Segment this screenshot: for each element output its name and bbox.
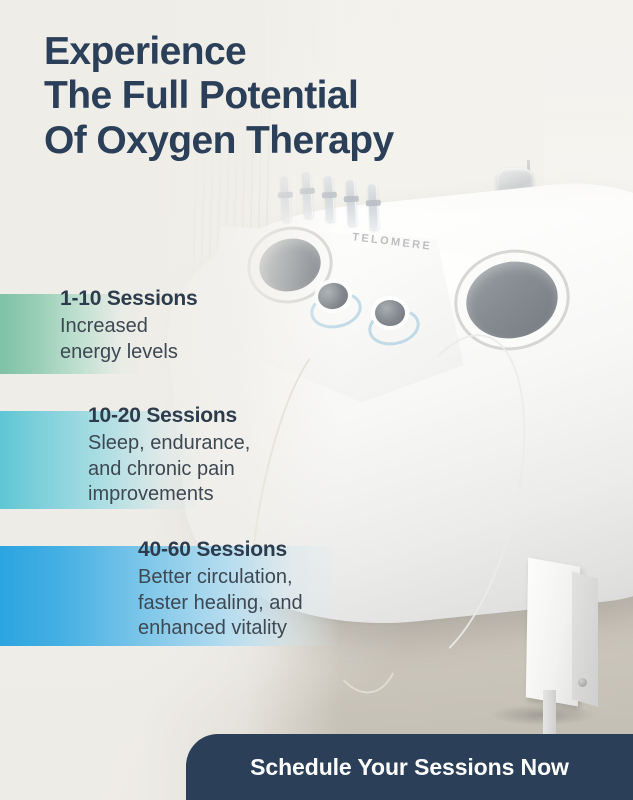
benefit-body: Sleep, endurance, and chronic pain impro… [88,431,250,508]
benefit-block-1: 1-10 Sessions Increased energy levels [60,287,197,365]
benefit-block-3: 40-60 Sessions Better circulation, faste… [138,538,303,642]
headline-line-3: Of Oxygen Therapy [44,119,504,163]
headline-line-1: Experience [44,30,504,74]
benefit-title: 10-20 Sessions [88,404,250,428]
cta-banner[interactable]: Schedule Your Sessions Now [186,734,633,800]
control-knob-icon [375,300,405,326]
cta-label: Schedule Your Sessions Now [250,754,569,781]
page-title: Experience The Full Potential Of Oxygen … [44,30,504,163]
stand-bolt [578,678,587,687]
benefit-body: Better circulation, faster healing, and … [138,565,303,642]
benefit-title: 40-60 Sessions [138,538,303,562]
poster: TELOMERE Experience The Full Potential O… [0,0,633,800]
headline-line-2: The Full Potential [44,74,504,118]
benefit-title: 1-10 Sessions [60,287,197,311]
benefit-block-2: 10-20 Sessions Sleep, endurance, and chr… [88,404,250,508]
benefit-body: Increased energy levels [60,314,197,365]
chamber-stand-side [572,571,598,706]
